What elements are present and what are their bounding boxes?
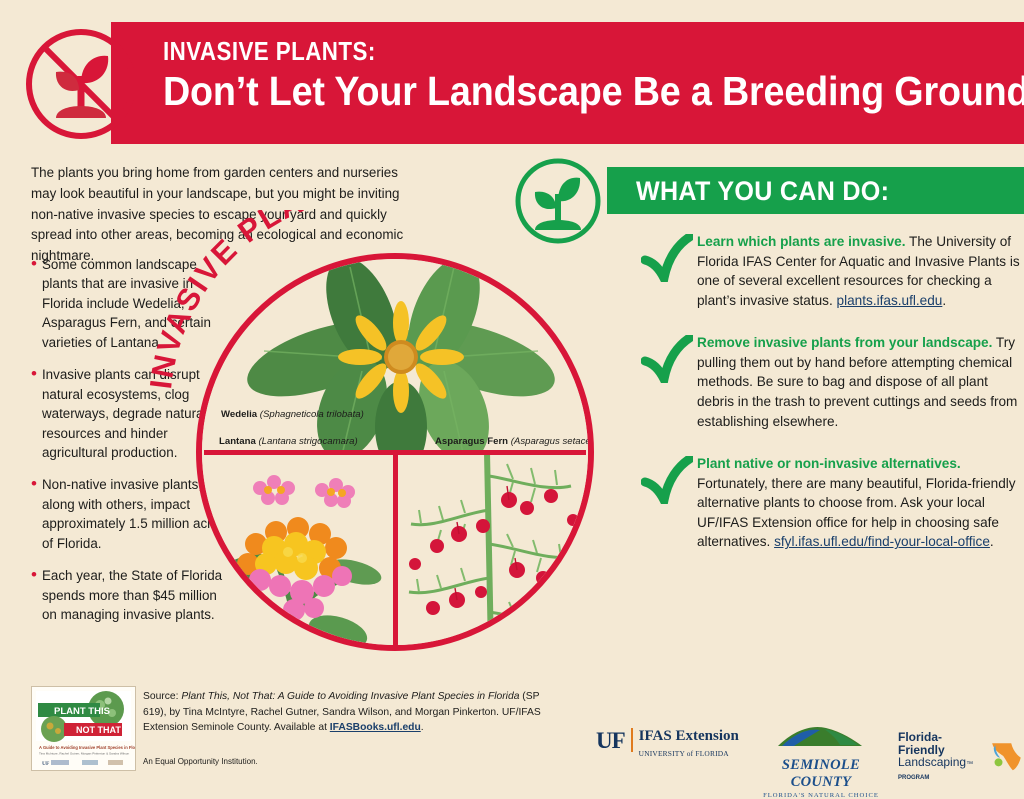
tip-item-plant-native: Plant native or non-invasive alternative… xyxy=(641,454,1024,552)
ffl-line2: Landscaping xyxy=(898,755,966,769)
bullet-dot-icon: • xyxy=(31,566,37,624)
tip-text: Plant native or non-invasive alternative… xyxy=(697,454,1024,552)
florida-friendly-landscaping-logo: Florida-Friendly Landscaping™ PROGRAM xyxy=(898,731,1024,781)
source-prefix: Source: xyxy=(143,691,181,702)
tip-link[interactable]: plants.ifas.ufl.edu xyxy=(837,293,943,308)
uf-ifas-extension-logo: UF IFAS Extension UNIVERSITY of FLORIDA xyxy=(596,728,739,760)
ffl-line1: Florida-Friendly xyxy=(898,731,985,756)
tip-text: Remove invasive plants from your landsca… xyxy=(697,333,1024,431)
uf-university-sub: UNIVERSITY of FLORIDA xyxy=(639,749,729,758)
tip-item-learn: Learn which plants are invasive. The Uni… xyxy=(641,232,1024,310)
checkmark-icon xyxy=(641,234,693,282)
source-citation: Source: Plant This, Not That: A Guide to… xyxy=(143,689,563,736)
header-kicker: INVASIVE PLANTS: xyxy=(163,38,885,64)
checkmark-icon xyxy=(641,456,693,504)
tip-lead: Plant native or non-invasive alternative… xyxy=(697,456,961,471)
partner-logos: UF IFAS Extension UNIVERSITY of FLORIDA … xyxy=(588,722,1024,778)
invasive-plants-circle-diagram: Wedelia (Sphagneticola trilobata) Lantan… xyxy=(196,253,594,651)
equal-opportunity-statement: An Equal Opportunity Institution. xyxy=(143,757,258,766)
tip-link[interactable]: sfyl.ifas.ufl.edu/find-your-local-office xyxy=(774,534,990,549)
seminole-mark-icon xyxy=(766,724,876,752)
ffl-tm: ™ xyxy=(966,761,973,768)
uf-ifas-name: IFAS Extension xyxy=(639,728,739,744)
seedling-icon xyxy=(513,156,603,246)
florida-state-icon xyxy=(989,736,1024,776)
source-link[interactable]: IFASBooks.ufl.edu xyxy=(330,722,421,733)
source-title: Plant This, Not That: A Guide to Avoidin… xyxy=(181,691,519,702)
label-asparagus-fern: Asparagus Fern (Asparagus setaceus) xyxy=(435,436,594,447)
panel-lantana xyxy=(202,452,395,645)
checkmark-icon xyxy=(641,335,693,383)
seminole-county-tagline: FLORIDA'S NATURAL CHOICE xyxy=(756,792,886,799)
book-not-that: NOT THAT xyxy=(76,725,121,735)
seminole-county-logo: SEMINOLE COUNTY FLORIDA'S NATURAL CHOICE xyxy=(756,724,886,799)
tip-lead: Learn which plants are invasive. xyxy=(697,234,906,249)
no-plant-prohibition-icon xyxy=(22,28,140,140)
tip-item-remove: Remove invasive plants from your landsca… xyxy=(641,333,1024,431)
panel-asparagus-fern xyxy=(395,452,588,645)
bullet-dot-icon: • xyxy=(31,365,37,462)
ffl-program: PROGRAM xyxy=(898,775,929,781)
label-wedelia: Wedelia (Sphagneticola trilobata) xyxy=(221,409,364,420)
infographic-page: INVASIVE PLANTS: Don’t Let Your Landscap… xyxy=(0,0,1024,791)
tip-text: Learn which plants are invasive. The Uni… xyxy=(697,232,1024,310)
circle-divider-vertical xyxy=(393,452,398,645)
book-cover-thumbnail: PLANT THIS NOT THAT A Guide to Avoiding … xyxy=(31,686,136,771)
book-subtitle: A Guide to Avoiding Invasive Plant Speci… xyxy=(39,745,135,750)
panel-wedelia xyxy=(202,259,588,452)
tip-trail: . xyxy=(990,534,994,549)
book-plant-this: PLANT THIS xyxy=(54,706,110,717)
bullet-dot-icon: • xyxy=(31,475,37,553)
tip-trail: . xyxy=(942,293,946,308)
source-end: . xyxy=(421,722,424,733)
tips-list: Learn which plants are invasive. The Uni… xyxy=(641,232,1024,575)
tip-lead: Remove invasive plants from your landsca… xyxy=(697,335,992,350)
uf-wordmark: UF xyxy=(596,728,625,753)
intro-paragraph: The plants you bring home from garden ce… xyxy=(31,163,416,267)
circle-frame: Wedelia (Sphagneticola trilobata) Lantan… xyxy=(196,253,594,651)
book-authors: Tina McIntyre, Rachel Gutner, Morgan Pin… xyxy=(39,752,129,756)
label-lantana: Lantana (Lantana strigocamara) xyxy=(219,436,358,447)
header-text-block: INVASIVE PLANTS: Don’t Let Your Landscap… xyxy=(163,38,1003,113)
svg-text:UF: UF xyxy=(42,761,50,767)
bullet-dot-icon: • xyxy=(31,255,37,352)
what-you-can-do-heading: WHAT YOU CAN DO: xyxy=(636,176,889,207)
uf-divider xyxy=(631,728,633,752)
seminole-county-name: SEMINOLE COUNTY xyxy=(756,757,886,791)
page-title: Don’t Let Your Landscape Be a Breeding G… xyxy=(163,70,936,113)
